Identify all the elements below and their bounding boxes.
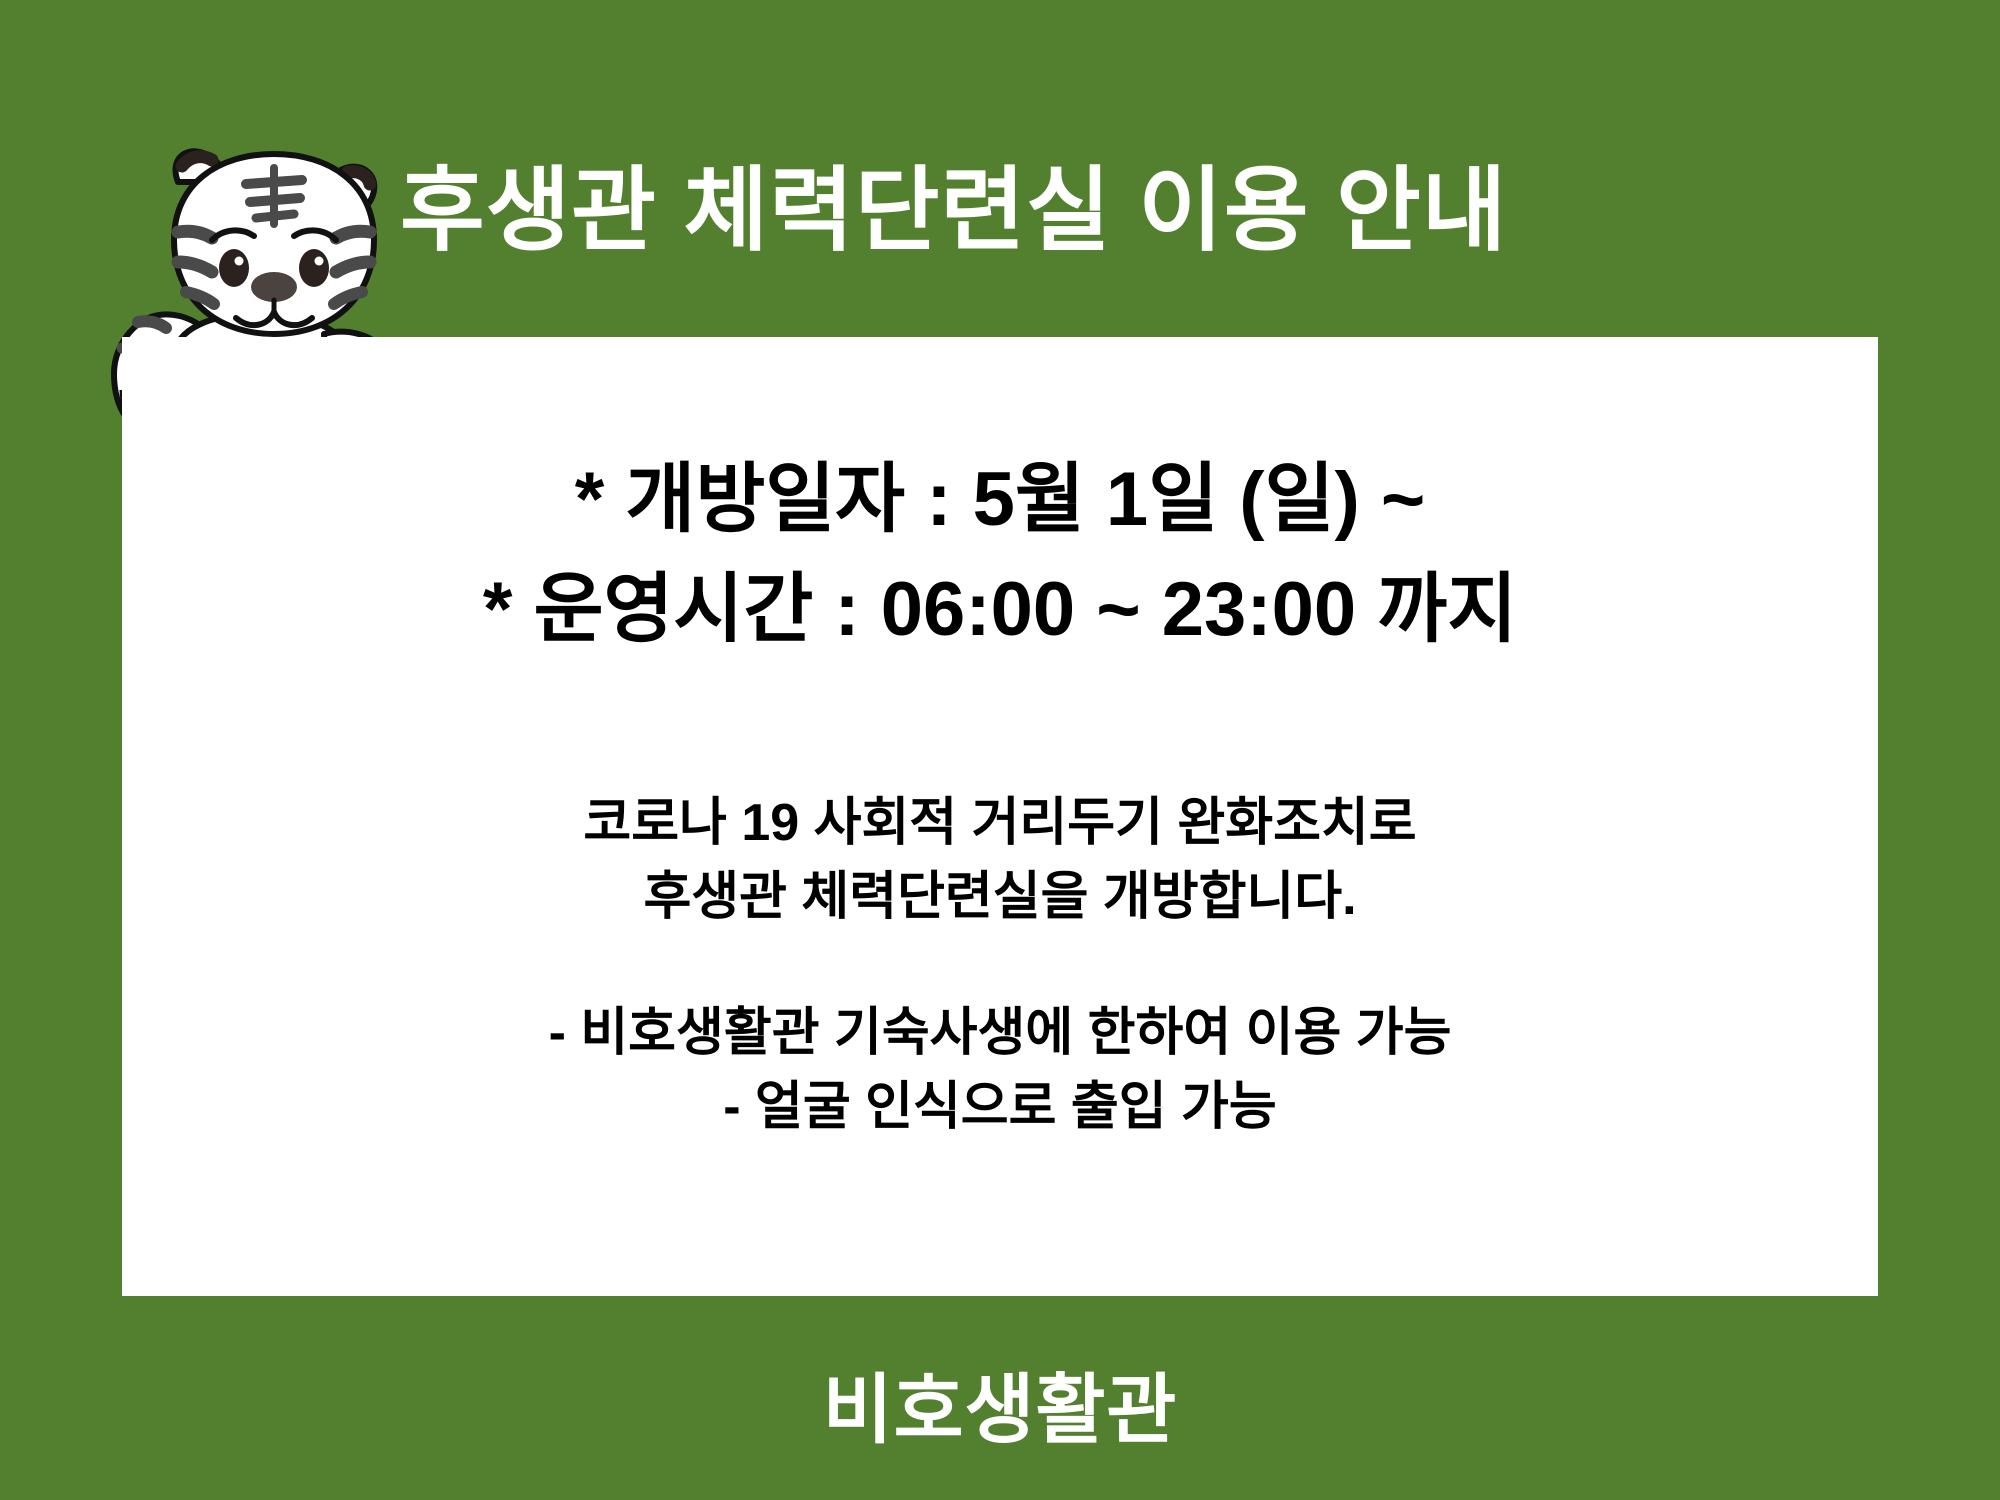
description-group: 코로나 19 사회적 거리두기 완화조치로 후생관 체력단련실을 개방합니다. — [122, 787, 1878, 935]
description-line-2: 후생관 체력단련실을 개방합니다. — [122, 861, 1878, 935]
bullet-group: - 비호생활관 기숙사생에 한하여 이용 가능 - 얼굴 인식으로 출입 가능 — [122, 997, 1878, 1145]
page-title: 후생관 체력단련실 이용 안내 — [400, 162, 1700, 261]
bullet-item-residents-only: - 비호생활관 기숙사생에 한하여 이용 가능 — [122, 997, 1878, 1071]
notice-card-content: * 개방일자 : 5월 1일 (일) ~ * 운영시간 : 06:00 ~ 23… — [122, 337, 1878, 1296]
poster-canvas: 후생관 체력단련실 이용 안내 * 개방일자 : 5월 1일 (일) ~ * 운… — [0, 0, 2000, 1500]
headline-open-date: * 개방일자 : 5월 1일 (일) ~ — [122, 445, 1878, 555]
footer-organization-name: 비호생활관 — [0, 1348, 2000, 1458]
bullet-item-face-recognition: - 얼굴 인식으로 출입 가능 — [122, 1071, 1878, 1145]
description-line-1: 코로나 19 사회적 거리두기 완화조치로 — [122, 787, 1878, 861]
notice-card: * 개방일자 : 5월 1일 (일) ~ * 운영시간 : 06:00 ~ 23… — [122, 337, 1878, 1296]
headline-group: * 개방일자 : 5월 1일 (일) ~ * 운영시간 : 06:00 ~ 23… — [122, 445, 1878, 665]
headline-operating-hours: * 운영시간 : 06:00 ~ 23:00 까지 — [122, 555, 1878, 665]
